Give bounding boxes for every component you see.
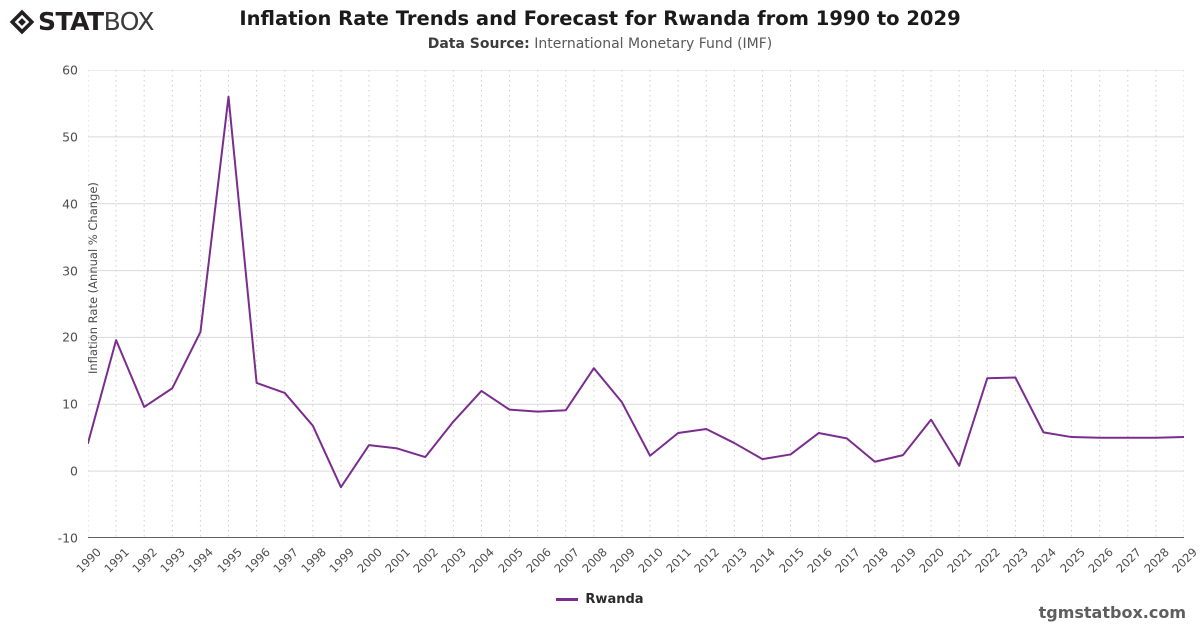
chart-subtitle: Data Source: International Monetary Fund… xyxy=(180,33,1020,55)
y-axis-title: Inflation Rate (Annual % Change) xyxy=(86,182,100,374)
site-watermark: tgmstatbox.com xyxy=(1039,603,1186,622)
chart-header: STATBOX Inflation Rate Trends and Foreca… xyxy=(0,0,1200,62)
y-tick-label: 20 xyxy=(6,330,78,345)
line-chart-svg xyxy=(88,70,1184,538)
chart-title: Inflation Rate Trends and Forecast for R… xyxy=(180,6,1020,32)
wordmark-box: BOX xyxy=(104,7,154,36)
series-line-rwanda xyxy=(88,97,1184,487)
data-source-label: Data Source: xyxy=(428,36,530,52)
wordmark-stat: STAT xyxy=(38,7,104,36)
series-lines xyxy=(88,97,1184,487)
data-source-value: International Monetary Fund (IMF) xyxy=(534,36,772,52)
chart-plot-area: -100102030405060 Inflation Rate (Annual … xyxy=(88,70,1184,538)
y-tick-label: 60 xyxy=(6,63,78,78)
statbox-diamond-icon xyxy=(8,8,36,36)
vertical-gridlines xyxy=(88,70,1184,538)
y-tick-label: 50 xyxy=(6,129,78,144)
statbox-wordmark: STATBOX xyxy=(38,8,154,36)
y-tick-label: 0 xyxy=(6,464,78,479)
y-tick-label: 40 xyxy=(6,196,78,211)
title-block: Inflation Rate Trends and Forecast for R… xyxy=(180,6,1020,55)
legend-label: Rwanda xyxy=(585,592,643,607)
y-tick-label: 30 xyxy=(6,263,78,278)
horizontal-gridlines xyxy=(88,70,1184,471)
legend-item-rwanda[interactable]: Rwanda xyxy=(556,592,643,607)
legend-swatch-icon xyxy=(556,598,578,600)
statbox-logo: STATBOX xyxy=(8,8,154,36)
y-tick-label: -10 xyxy=(6,531,78,546)
chart-legend: Rwanda xyxy=(0,592,1200,607)
y-tick-label: 10 xyxy=(6,397,78,412)
